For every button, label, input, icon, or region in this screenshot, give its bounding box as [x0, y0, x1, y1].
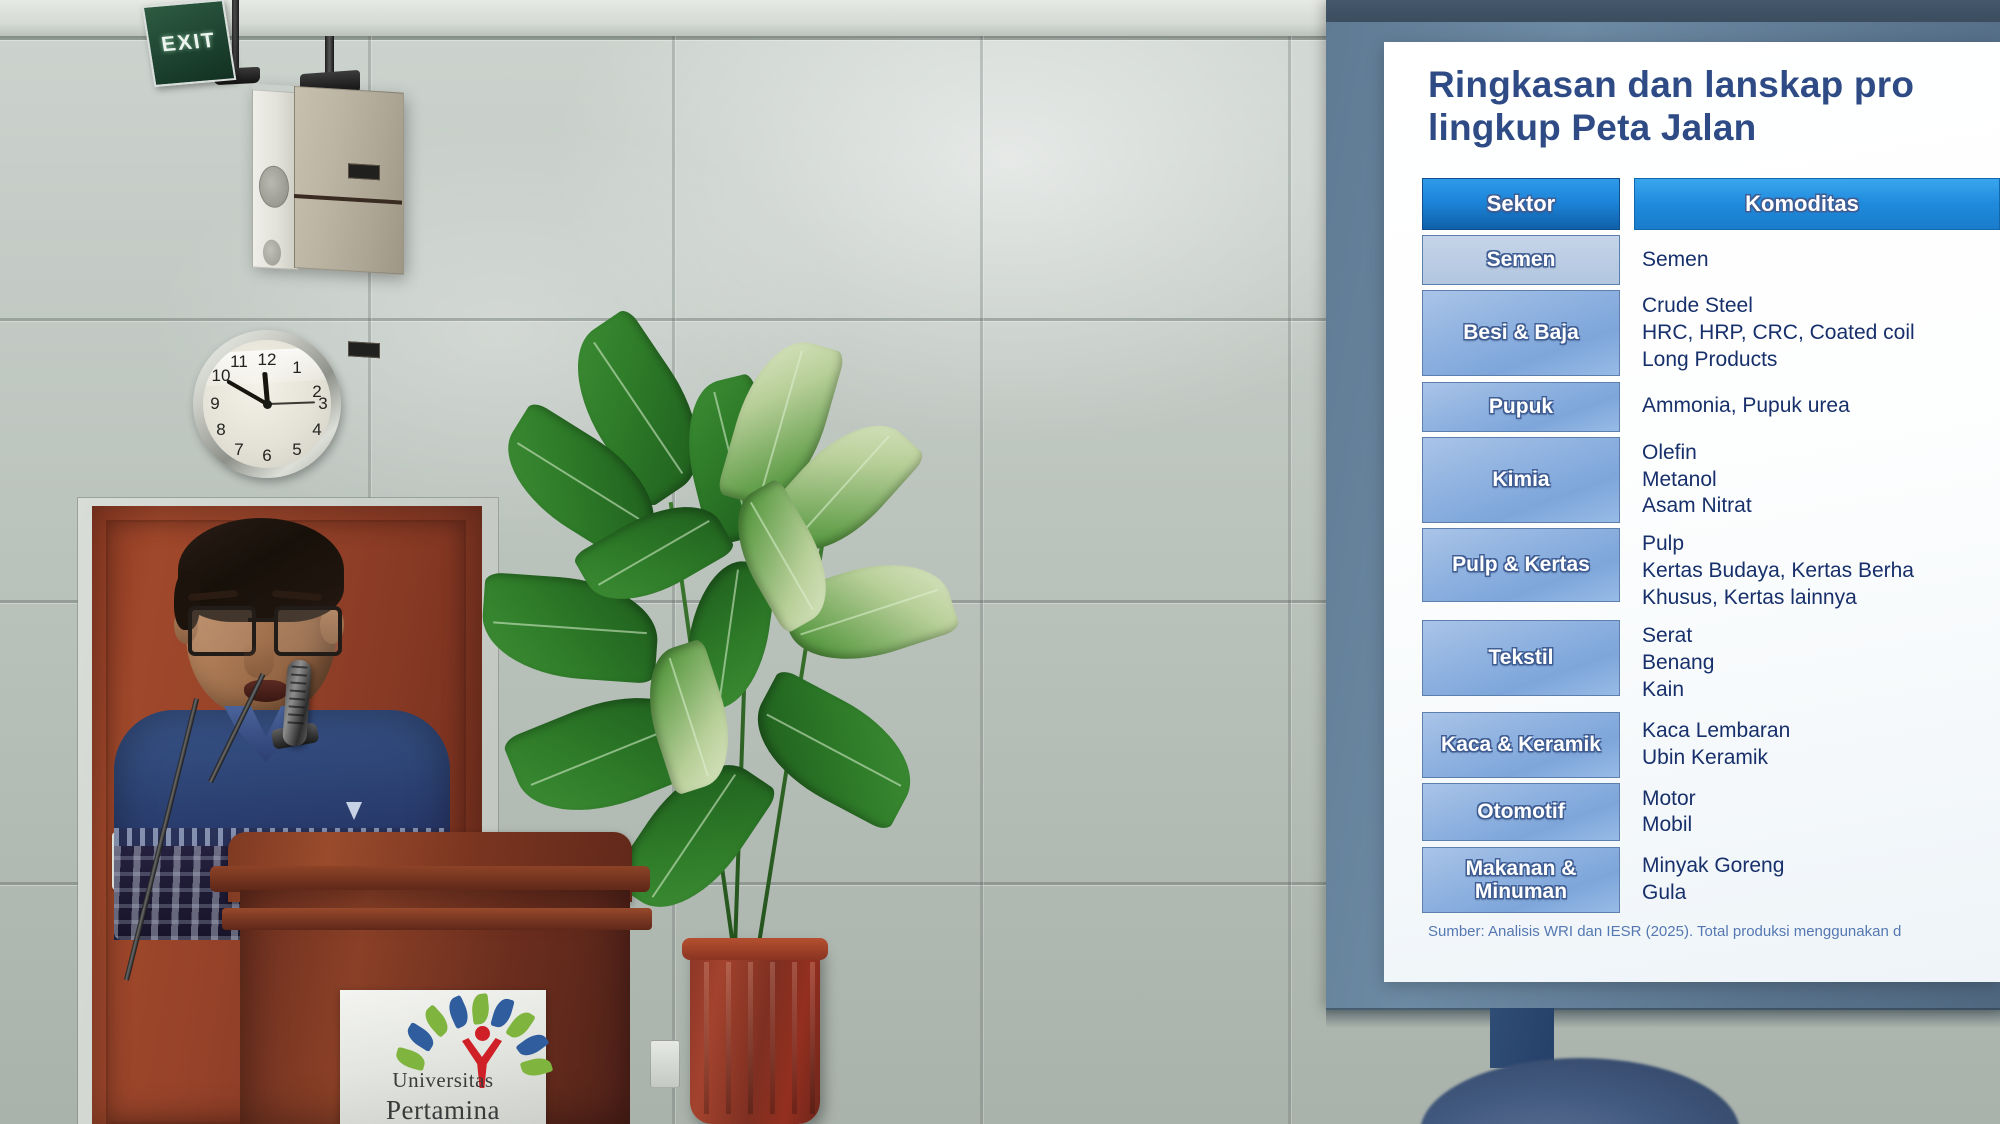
clock-numeral: 1 [287, 358, 307, 378]
commodity-line: Kaca Lembaran [1642, 718, 2000, 745]
sector-cell: Semen [1422, 235, 1620, 285]
podium-shelf [222, 908, 652, 930]
clock-face: 12 1 2 3 4 5 6 7 8 9 10 11 [203, 340, 331, 468]
table-row: Pulp & Kertas Pulp Kertas Budaya, Kertas… [1422, 528, 2000, 615]
sector-cell: Pupuk [1422, 382, 1620, 432]
slide-title-line-2: lingkup Peta Jalan [1428, 107, 2000, 150]
pa-speaker-port [259, 165, 289, 209]
commodity-line: Minyak Goreng [1642, 853, 2000, 880]
exit-sign-label: EXIT [160, 29, 218, 57]
clock-numeral: 4 [307, 420, 327, 440]
clock-numeral: 3 [313, 394, 331, 414]
table-row: Kimia Olefin Metanol Asam Nitrat [1422, 437, 2000, 524]
table-row: Besi & Baja Crude Steel HRC, HRP, CRC, C… [1422, 290, 2000, 377]
sector-cell: Tekstil [1422, 620, 1620, 696]
presenter-nose [244, 644, 274, 678]
sector-cell: Makanan & Minuman [1422, 847, 1620, 913]
commodity-line: Motor [1642, 786, 2000, 813]
table-header-sektor: Sektor [1422, 178, 1620, 230]
table-row: Pupuk Ammonia, Pupuk urea [1422, 382, 2000, 432]
commodity-cell: Ammonia, Pupuk urea [1620, 382, 2000, 432]
wall-seam-vertical [1288, 36, 1291, 1124]
podium-logo-plaque: Universitas Pertamina [340, 990, 546, 1124]
commodity-cell: Serat Benang Kain [1620, 620, 2000, 707]
table-header-komoditas: Komoditas [1634, 178, 2000, 230]
commodity-line: Kain [1642, 677, 2000, 704]
commodity-line: Ubin Keramik [1642, 745, 2000, 772]
commodity-line: Gula [1642, 880, 2000, 907]
clock-numeral: 6 [257, 446, 277, 466]
sector-commodity-table: Sektor Komoditas Semen Semen Besi & Baja… [1422, 178, 2000, 918]
wall-seam-vertical [980, 36, 983, 1124]
podium-logo-line2: Pertamina [340, 1095, 546, 1124]
plant-pot-rim [682, 938, 828, 960]
glasses-bridge [248, 618, 276, 622]
sector-cell: Besi & Baja [1422, 290, 1620, 376]
clock-numeral: 11 [229, 352, 249, 372]
microphone-grill [288, 666, 308, 725]
pa-speaker-side [252, 89, 298, 270]
glasses-lens [274, 606, 342, 656]
table-row: Kaca & Keramik Kaca Lembaran Ubin Kerami… [1422, 712, 2000, 778]
pa-speaker-port [263, 239, 281, 266]
slide-title-line-1: Ringkasan dan lanskap pro [1428, 64, 2000, 107]
clock-second-hand [267, 401, 315, 405]
podium-logo-line1: Universitas [340, 1068, 546, 1093]
commodity-line: Kertas Budaya, Kertas Berha [1642, 558, 2000, 585]
projection-screen-base-shadow [1326, 1008, 2000, 1028]
exit-sign: EXIT [142, 0, 237, 87]
pa-speaker-badge [348, 163, 380, 180]
slide-source-note: Sumber: Analisis WRI dan IESR (2025). To… [1428, 923, 1901, 940]
commodity-line: HRC, HRP, CRC, Coated coil [1642, 320, 2000, 347]
slide-title: Ringkasan dan lanskap pro lingkup Peta J… [1428, 64, 2000, 150]
sector-cell: Kimia [1422, 437, 1620, 523]
commodity-line: Olefin [1642, 440, 2000, 467]
commodity-line: Semen [1642, 247, 2000, 274]
pa-speaker [252, 83, 402, 272]
clock-numeral: 7 [229, 440, 249, 460]
sector-cell: Pulp & Kertas [1422, 528, 1620, 602]
table-row: Semen Semen [1422, 235, 2000, 285]
commodity-cell: Pulp Kertas Budaya, Kertas Berha Khusus,… [1620, 528, 2000, 615]
table-row: Makanan & Minuman Minyak Goreng Gula [1422, 847, 2000, 913]
commodity-line: Khusus, Kertas lainnya [1642, 585, 2000, 612]
commodity-line: Mobil [1642, 812, 2000, 839]
commodity-line: Pulp [1642, 531, 2000, 558]
commodity-cell: Minyak Goreng Gula [1620, 847, 2000, 913]
pa-speaker-badge [348, 341, 380, 358]
commodity-cell: Motor Mobil [1620, 783, 2000, 843]
commodity-cell: Crude Steel HRC, HRP, CRC, Coated coil L… [1620, 290, 2000, 377]
clock-numeral: 8 [211, 420, 231, 440]
commodity-line: Serat [1642, 623, 2000, 650]
wall-clock: 12 1 2 3 4 5 6 7 8 9 10 11 [193, 330, 341, 478]
pertamina-figure-head [475, 1026, 490, 1041]
sector-cell: Otomotif [1422, 783, 1620, 841]
commodity-cell: Olefin Metanol Asam Nitrat [1620, 437, 2000, 524]
commodity-line: Benang [1642, 650, 2000, 677]
podium-logo-text: Universitas Pertamina [340, 1068, 546, 1124]
projection-screen-top-bar [1326, 0, 2000, 22]
pa-speaker-face [294, 86, 404, 275]
commodity-line: Metanol [1642, 467, 2000, 494]
table-header-row: Sektor Komoditas [1422, 178, 2000, 230]
presentation-slide: Ringkasan dan lanskap pro lingkup Peta J… [1384, 42, 2000, 982]
table-row: Tekstil Serat Benang Kain [1422, 620, 2000, 707]
photo-scene: EXIT 12 1 2 3 4 5 6 7 8 9 10 11 [0, 0, 2000, 1124]
commodity-cell: Kaca Lembaran Ubin Keramik [1620, 712, 2000, 778]
commodity-line: Crude Steel [1642, 293, 2000, 320]
wall-outlet [650, 1040, 680, 1088]
commodity-cell: Semen [1620, 235, 2000, 285]
plant-pot [690, 940, 820, 1124]
clock-numeral: 12 [257, 350, 277, 370]
table-row: Otomotif Motor Mobil [1422, 783, 2000, 843]
plant-pot-ribs [698, 962, 812, 1114]
clock-numeral: 5 [287, 440, 307, 460]
clock-numeral: 9 [205, 394, 225, 414]
clock-center-pin [263, 400, 272, 409]
sector-cell: Kaca & Keramik [1422, 712, 1620, 778]
commodity-line: Long Products [1642, 347, 2000, 374]
commodity-line: Asam Nitrat [1642, 493, 2000, 520]
commodity-line: Ammonia, Pupuk urea [1642, 393, 2000, 420]
